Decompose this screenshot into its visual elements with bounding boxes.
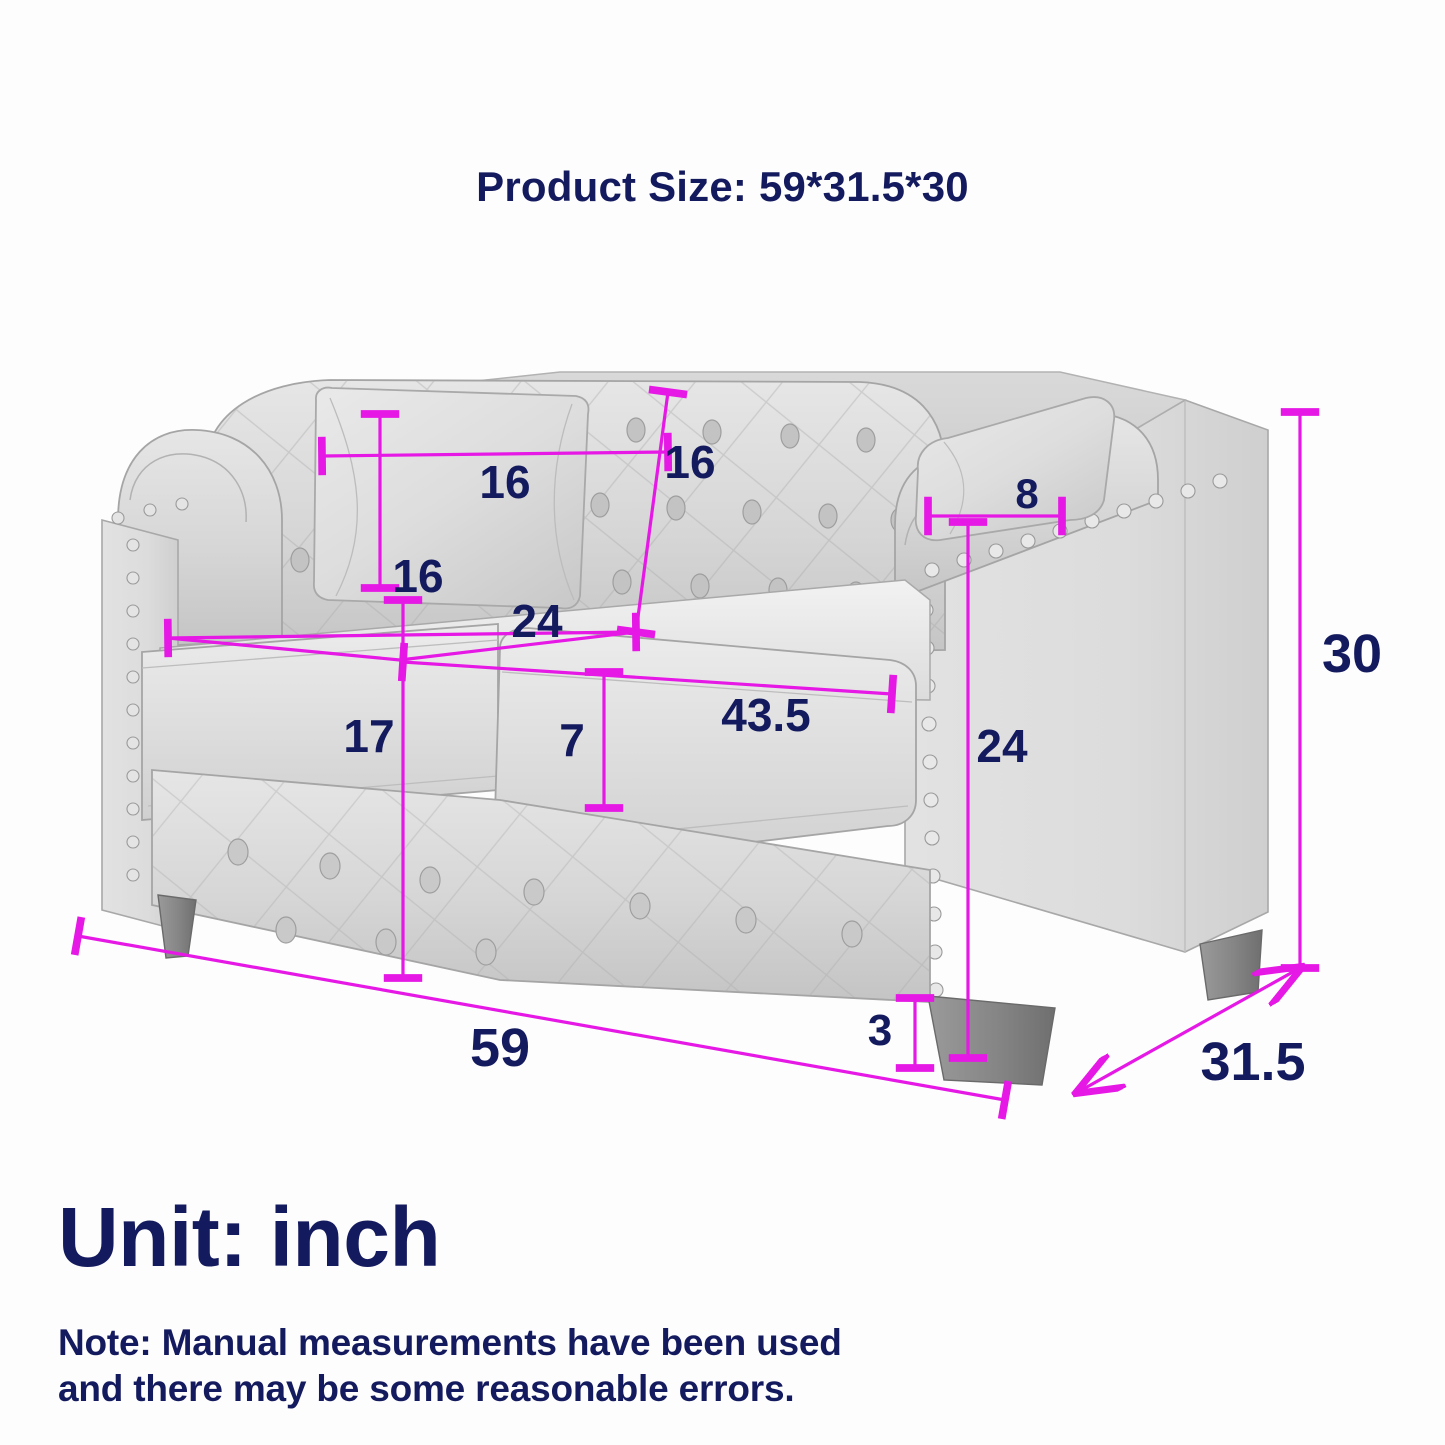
product-dimension-diagram: Product Size: 59*31.5*30 [0, 0, 1445, 1445]
dimension-label-overall-width: 59 [470, 1018, 530, 1078]
dimension-label-overall-height: 30 [1322, 624, 1382, 684]
dimension-label-overall-depth: 31.5 [1200, 1032, 1305, 1092]
dimension-label-arm-height: 24 [976, 720, 1028, 772]
dimension-label-cushion-thickness: 7 [559, 714, 585, 766]
dimension-label-arm-width: 8 [1015, 470, 1038, 517]
measurement-note-line-2: and there may be some reasonable errors. [58, 1366, 1158, 1412]
dimension-label-seat-height: 17 [343, 710, 394, 762]
throw-pillow-left [314, 388, 589, 609]
sofa-leg-front-left [158, 895, 196, 958]
dimension-label-seat-width: 43.5 [721, 689, 811, 741]
dimension-label-backrest-height: 16 [664, 436, 715, 488]
dimension-label-seat-depth: 24 [511, 595, 563, 647]
unit-label: Unit: inch [58, 1195, 440, 1279]
measurement-note-line-1: Note: Manual measurements have been used [58, 1320, 1158, 1366]
dimension-label-pillow-height: 16 [392, 550, 443, 602]
dimension-label-leg-height: 3 [868, 1006, 892, 1055]
measurement-note: Note: Manual measurements have been used… [58, 1320, 1158, 1413]
sofa-leg-front-right [928, 996, 1055, 1085]
dimension-label-pillow-width: 16 [479, 456, 530, 508]
